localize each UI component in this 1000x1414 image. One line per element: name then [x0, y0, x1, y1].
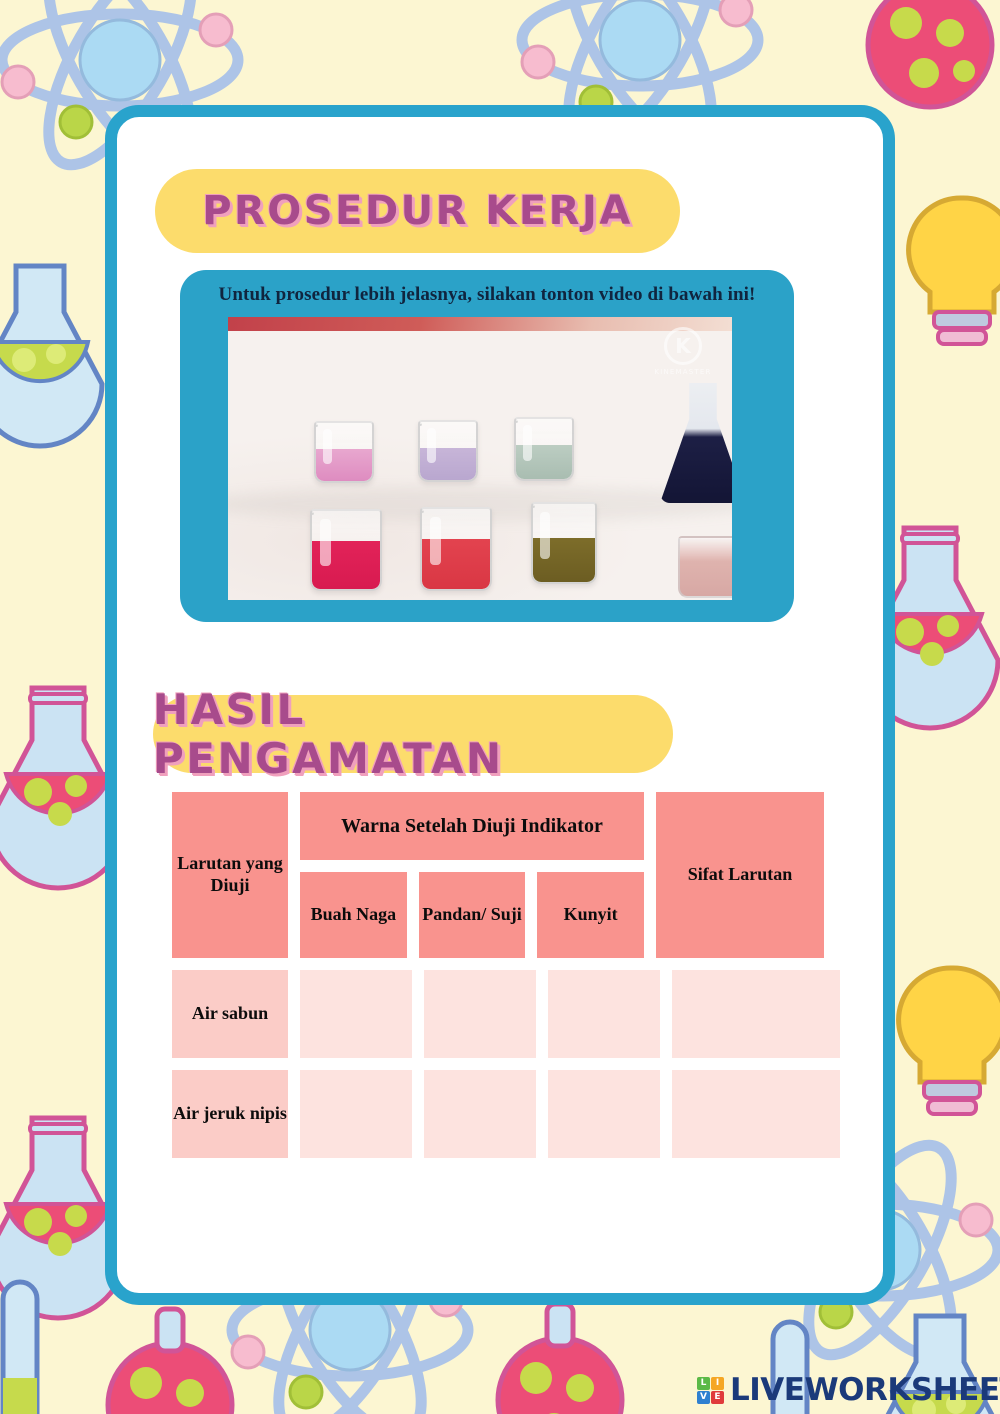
answer-cell-air-sabun-buah-naga[interactable]	[300, 970, 412, 1058]
beaker-dusty-pink	[678, 536, 732, 598]
beaker-spout	[310, 512, 316, 522]
table-row: Air sabun	[172, 970, 840, 1058]
logo-letter-l: L	[697, 1377, 710, 1390]
beaker-spout	[531, 505, 537, 515]
logo-letter-i: I	[711, 1377, 724, 1390]
header-sifat-larutan: Sifat Larutan	[656, 792, 824, 958]
header-indikator-subrow: Buah Naga Pandan/ Suji Kunyit	[300, 872, 644, 958]
table-row: Air jeruk nipis	[172, 1070, 840, 1158]
heading-prosedur-kerja-label: PROSEDUR KERJA	[202, 188, 633, 234]
beaker-pale-green	[514, 417, 574, 481]
header-indikator-pandan-suji: Pandan/ Suji	[419, 872, 526, 958]
answer-cell-air-jeruk-nipis-buah-naga[interactable]	[300, 1070, 412, 1158]
header-warna-setelah-diuji-indikator: Warna Setelah Diuji Indikator	[300, 792, 644, 860]
liveworksheets-logo-wordmark: LIVEWORKSHEETS	[730, 1372, 1000, 1408]
beaker-spout	[418, 423, 424, 433]
beaker-spout	[420, 510, 426, 520]
logo-letter-v: V	[697, 1391, 710, 1404]
answer-cell-air-sabun-kunyit[interactable]	[548, 970, 660, 1058]
answer-cell-air-jeruk-nipis-pandan-suji[interactable]	[424, 1070, 536, 1158]
header-indikator-buah-naga: Buah Naga	[300, 872, 407, 958]
logo-letter-e: E	[711, 1391, 724, 1404]
beaker-gloss	[323, 429, 332, 464]
observation-table: Larutan yang Diuji Warna Setelah Diuji I…	[172, 792, 840, 1158]
answer-cell-air-jeruk-nipis-kunyit[interactable]	[548, 1070, 660, 1158]
beaker-pink-light	[314, 421, 374, 483]
answer-cell-air-sabun-sifat-larutan[interactable]	[672, 970, 840, 1058]
heading-prosedur-kerja: PROSEDUR KERJA	[155, 169, 680, 253]
kinemaster-logo-icon: K	[664, 327, 702, 365]
row-label-air-jeruk-nipis: Air jeruk nipis	[172, 1070, 288, 1158]
beaker-lavender	[418, 420, 478, 482]
beaker-gloss	[430, 517, 441, 565]
table-header-row: Larutan yang Diuji Warna Setelah Diuji I…	[172, 792, 840, 958]
beaker-olive	[531, 502, 597, 584]
answer-cell-air-sabun-pandan-suji[interactable]	[424, 970, 536, 1058]
kinemaster-watermark: K KINEMASTER	[650, 327, 716, 376]
beaker-spout	[314, 424, 320, 434]
header-indikator-group: Warna Setelah Diuji Indikator Buah Naga …	[300, 792, 644, 958]
worksheet-card: PROSEDUR KERJA Untuk prosedur lebih jela…	[105, 105, 895, 1305]
worksheet-page: PROSEDUR KERJA Untuk prosedur lebih jela…	[0, 0, 1000, 1414]
beaker-gloss	[540, 512, 550, 559]
beaker-spout	[514, 420, 520, 430]
beaker-magenta	[310, 509, 382, 591]
video-caption-text: Untuk prosedur lebih jelasnya, silakan t…	[180, 284, 794, 306]
beaker-gloss	[320, 519, 331, 566]
header-indikator-kunyit: Kunyit	[537, 872, 644, 958]
heading-hasil-pengamatan: HASIL PENGAMATAN	[153, 695, 673, 773]
header-larutan-yang-diuji: Larutan yang Diuji	[172, 792, 288, 958]
heading-hasil-pengamatan-label: HASIL PENGAMATAN	[153, 685, 673, 783]
beaker-gloss	[523, 425, 532, 461]
video-thumbnail[interactable]: K KINEMASTER	[228, 317, 732, 600]
liveworksheets-logo[interactable]: L I V E LIVEWORKSHEETS	[697, 1372, 1000, 1408]
beaker-red	[420, 507, 492, 591]
beaker-gloss	[427, 428, 436, 463]
video-panel: Untuk prosedur lebih jelasnya, silakan t…	[180, 270, 794, 622]
liveworksheets-logo-icon: L I V E	[697, 1377, 724, 1404]
row-label-air-sabun: Air sabun	[172, 970, 288, 1058]
answer-cell-air-jeruk-nipis-sifat-larutan[interactable]	[672, 1070, 840, 1158]
kinemaster-watermark-label: KINEMASTER	[650, 368, 716, 376]
